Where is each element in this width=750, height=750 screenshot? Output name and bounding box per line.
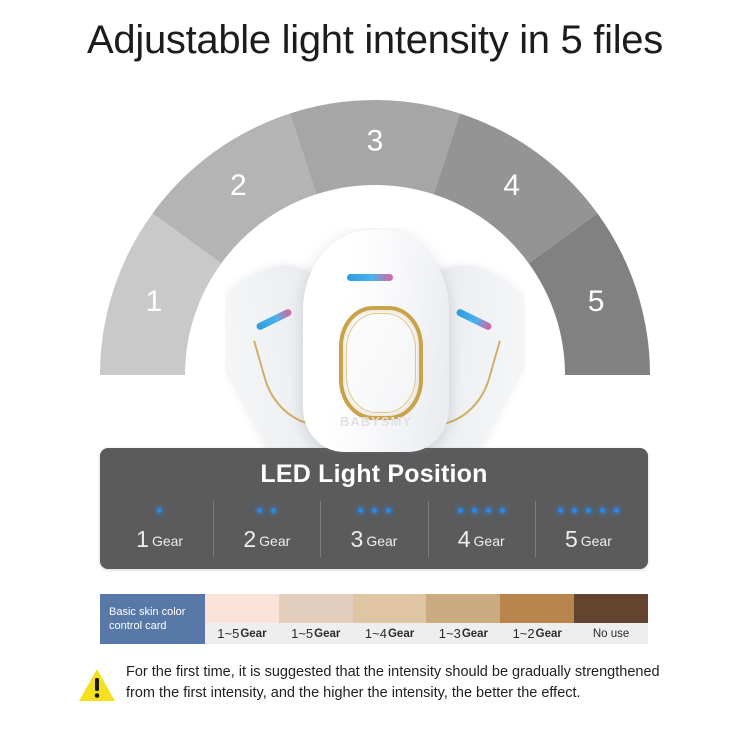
warning-text: For the first time, it is suggested that… bbox=[126, 662, 678, 707]
gear-number: 1 bbox=[136, 526, 149, 552]
led-dot-icon bbox=[372, 508, 377, 513]
skin-tone-range: 1~2 bbox=[513, 626, 535, 641]
skin-tone-word: Gear bbox=[462, 628, 488, 640]
gear-led-dots bbox=[106, 503, 213, 517]
skin-tone-word: Gear bbox=[536, 628, 562, 640]
gear-word: Gear bbox=[152, 533, 183, 549]
gear-word: Gear bbox=[474, 533, 505, 549]
skin-tone-swatch bbox=[574, 594, 648, 623]
led-dot-icon bbox=[271, 508, 276, 513]
skin-card-title-line2: control card bbox=[109, 619, 205, 633]
led-dot-icon bbox=[486, 508, 491, 513]
gear-number: 5 bbox=[565, 526, 578, 552]
arc-label-4: 4 bbox=[503, 169, 520, 202]
gear-led-dots bbox=[428, 503, 535, 517]
gear-label: 4Gear bbox=[428, 526, 535, 553]
skin-tone-column-5[interactable]: 1~2Gear bbox=[500, 594, 574, 644]
device-brand-label: BABYSMY bbox=[326, 414, 426, 429]
arc-label-1: 1 bbox=[146, 285, 163, 318]
skin-tone-word: Gear bbox=[314, 628, 340, 640]
led-dot-icon bbox=[572, 508, 577, 513]
skin-tone-swatch bbox=[205, 594, 279, 623]
skin-tone-word: Gear bbox=[388, 628, 414, 640]
warning-note: For the first time, it is suggested that… bbox=[78, 662, 678, 707]
led-dot-icon bbox=[358, 508, 363, 513]
gear-cell-2[interactable]: 2Gear bbox=[213, 499, 320, 559]
gear-label: 2Gear bbox=[213, 526, 320, 553]
gear-label: 1Gear bbox=[106, 526, 213, 553]
skin-card-title: Basic skin color control card bbox=[100, 594, 205, 644]
skin-tone-column-4[interactable]: 1~3Gear bbox=[426, 594, 500, 644]
gear-label: 5Gear bbox=[535, 526, 642, 553]
skin-tone-swatch bbox=[500, 594, 574, 623]
gear-number: 3 bbox=[351, 526, 364, 552]
led-dot-icon bbox=[472, 508, 477, 513]
skin-tone-full-label: No use bbox=[593, 628, 629, 640]
led-dot-icon bbox=[500, 508, 505, 513]
led-dot-icon bbox=[600, 508, 605, 513]
gear-word: Gear bbox=[259, 533, 290, 549]
skin-tone-label: 1~2Gear bbox=[500, 623, 574, 644]
skin-tone-swatch bbox=[426, 594, 500, 623]
gear-cell-5[interactable]: 5Gear bbox=[535, 499, 642, 559]
gear-cell-4[interactable]: 4Gear bbox=[428, 499, 535, 559]
skin-tone-range: 1~5 bbox=[217, 626, 239, 641]
page-title: Adjustable light intensity in 5 files bbox=[0, 18, 750, 63]
arc-label-2: 2 bbox=[230, 169, 247, 202]
gear-cell-3[interactable]: 3Gear bbox=[320, 499, 427, 559]
led-dot-icon bbox=[257, 508, 262, 513]
skin-tone-range: 1~5 bbox=[291, 626, 313, 641]
skin-tone-swatch bbox=[279, 594, 353, 623]
skin-tone-column-1[interactable]: 1~5Gear bbox=[205, 594, 279, 644]
device-flash-window bbox=[339, 306, 423, 420]
skin-tone-label: 1~5Gear bbox=[279, 623, 353, 644]
led-dot-icon bbox=[157, 508, 162, 513]
gear-row: 1Gear2Gear3Gear4Gear5Gear bbox=[100, 499, 648, 569]
skin-tone-label: No use bbox=[574, 623, 648, 644]
gear-led-dots bbox=[213, 503, 320, 517]
gear-word: Gear bbox=[366, 533, 397, 549]
device-led-strip-main bbox=[347, 274, 393, 281]
gear-cell-1[interactable]: 1Gear bbox=[106, 499, 213, 559]
gear-word: Gear bbox=[581, 533, 612, 549]
skin-tone-column-6[interactable]: No use bbox=[574, 594, 648, 644]
led-dot-icon bbox=[586, 508, 591, 513]
skin-tone-label: 1~5Gear bbox=[205, 623, 279, 644]
gear-number: 4 bbox=[458, 526, 471, 552]
gear-led-dots bbox=[535, 503, 642, 517]
led-dot-icon bbox=[386, 508, 391, 513]
skin-tone-word: Gear bbox=[240, 628, 266, 640]
product-image: BABYSMY bbox=[225, 228, 525, 453]
basic-skin-color-control-card: Basic skin color control card 1~5Gear1~5… bbox=[100, 594, 648, 644]
arc-label-5: 5 bbox=[588, 285, 605, 318]
led-panel-title: LED Light Position bbox=[100, 448, 648, 499]
skin-tone-range: 1~4 bbox=[365, 626, 387, 641]
skin-tone-label: 1~4Gear bbox=[353, 623, 427, 644]
gear-led-dots bbox=[320, 503, 427, 517]
warning-triangle-icon bbox=[78, 668, 116, 707]
skin-card-title-line1: Basic skin color bbox=[109, 605, 205, 619]
skin-tone-swatch bbox=[353, 594, 427, 623]
skin-tone-column-3[interactable]: 1~4Gear bbox=[353, 594, 427, 644]
skin-tone-label: 1~3Gear bbox=[426, 623, 500, 644]
led-dot-icon bbox=[458, 508, 463, 513]
led-dot-icon bbox=[558, 508, 563, 513]
gear-label: 3Gear bbox=[320, 526, 427, 553]
led-dot-icon bbox=[614, 508, 619, 513]
skin-tone-columns: 1~5Gear1~5Gear1~4Gear1~3Gear1~2GearNo us… bbox=[205, 594, 648, 644]
skin-tone-column-2[interactable]: 1~5Gear bbox=[279, 594, 353, 644]
gear-number: 2 bbox=[243, 526, 256, 552]
skin-tone-range: 1~3 bbox=[439, 626, 461, 641]
led-light-position-panel: LED Light Position 1Gear2Gear3Gear4Gear5… bbox=[100, 448, 648, 569]
arc-label-3: 3 bbox=[367, 124, 384, 157]
